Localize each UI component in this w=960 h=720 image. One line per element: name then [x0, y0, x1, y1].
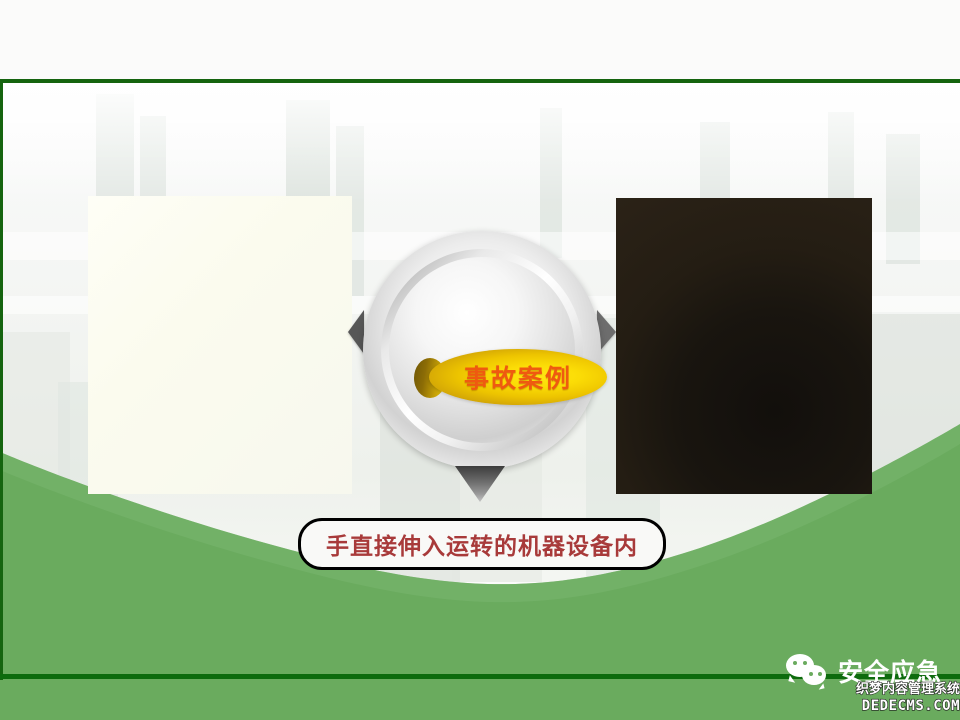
cartoon-background: [88, 196, 352, 494]
industrial-background: [616, 198, 872, 494]
badge-face: 事故案例: [389, 257, 575, 443]
slide-canvas: 事故案例 手直接伸入运转的机器设备内 安全应急 织梦内容管理系统 DEDECMS…: [0, 0, 960, 720]
top-green-rule: [0, 79, 960, 83]
caption-pill: 手直接伸入运转的机器设备内: [298, 518, 666, 570]
watermark-cn: 织梦内容管理系统: [856, 683, 960, 696]
arrow-left-icon: [348, 310, 364, 354]
accident-case-badge[interactable]: 事故案例: [363, 231, 601, 469]
wechat-icon: [786, 654, 832, 688]
badge-label: 事故案例: [464, 359, 572, 395]
watermark-en: DEDECMS.COM: [862, 699, 960, 713]
dedecms-watermark: 织梦内容管理系统 DEDECMS.COM: [834, 683, 960, 719]
left-green-rule: [0, 79, 3, 680]
photo-right: [616, 198, 872, 494]
caption-text: 手直接伸入运转的机器设备内: [326, 527, 638, 561]
badge-ring-inner: 事故案例: [381, 249, 583, 451]
photo-left: [88, 196, 352, 494]
badge-ellipse: 事故案例: [429, 349, 607, 405]
